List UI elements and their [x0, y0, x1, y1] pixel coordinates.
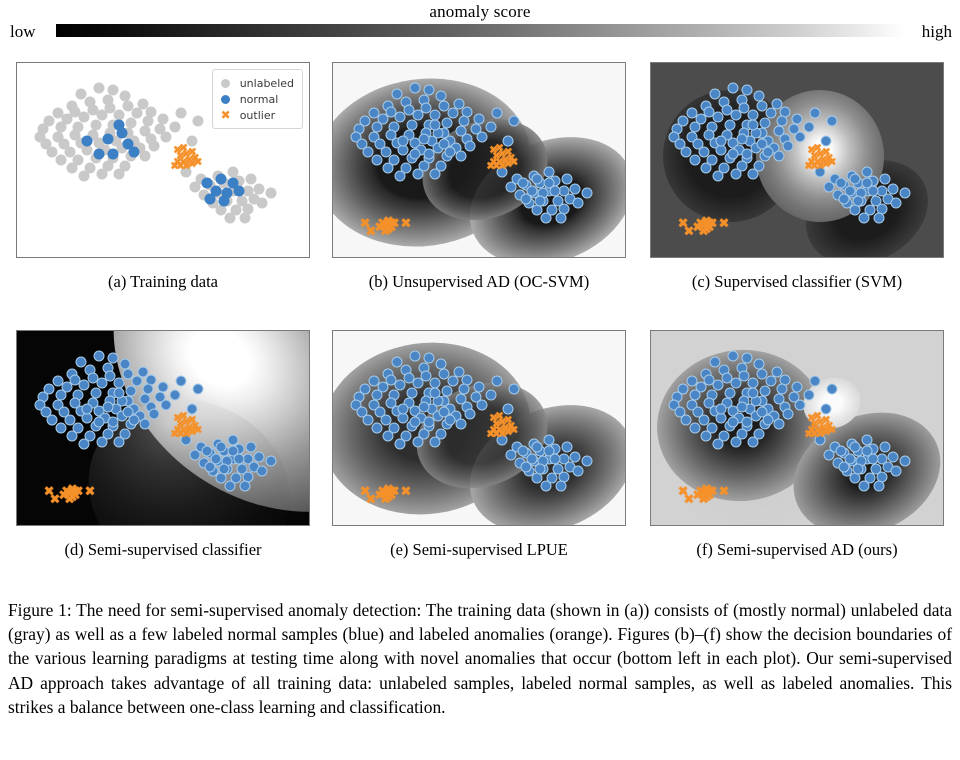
panel-a-caption: (a) Training data [3, 272, 323, 292]
normal-point [701, 162, 712, 173]
normal-point [409, 417, 420, 428]
normal-point [187, 403, 198, 414]
normal-point [783, 141, 794, 152]
normal-point [424, 149, 435, 160]
unlabeled-point [114, 168, 125, 179]
normal-point [573, 197, 584, 208]
scatter-layer-f: ✖✖✖✖✖✖✖✖✖✖✖✖✖✖✖✖✖✖✖✖✖✖✖✖✖✖ [651, 331, 943, 525]
novel-anomaly-point: ✖ [704, 218, 715, 231]
legend-item-outlier: ✖ outlier [219, 107, 294, 123]
normal-point [418, 401, 429, 412]
normal-point [891, 197, 902, 208]
normal-point [114, 436, 125, 447]
normal-point [193, 384, 204, 395]
normal-point [509, 116, 520, 127]
circle-icon [219, 79, 233, 88]
unlabeled-point [55, 155, 66, 166]
normal-point [503, 135, 514, 146]
normal-point [233, 454, 244, 465]
normal-point [108, 417, 119, 428]
unlabeled-point [93, 83, 104, 94]
normal-point [582, 455, 593, 466]
normal-point [873, 213, 884, 224]
unlabeled-point [160, 131, 171, 142]
panel-b-unsupervised-ad: ✖✖✖✖✖✖✖✖✖✖✖✖✖✖✖✖✖✖✖✖✖✖✖✖✖✖ [332, 62, 626, 258]
normal-point [555, 213, 566, 224]
normal-point [216, 442, 227, 453]
normal-point [476, 131, 487, 142]
novel-anomaly-point: ✖ [719, 218, 730, 231]
figure-page: anomaly score low high ✖✖✖✖✖✖✖✖✖✖✖✖✖✖ un… [0, 0, 960, 760]
colorbar-gradient [56, 24, 906, 37]
normal-point [713, 170, 724, 181]
normal-point [233, 186, 244, 197]
normal-point [891, 465, 902, 476]
panel-f-semi-supervised-ad: ✖✖✖✖✖✖✖✖✖✖✖✖✖✖✖✖✖✖✖✖✖✖✖✖✖✖ [650, 330, 944, 526]
normal-point [456, 151, 467, 162]
normal-point [491, 108, 502, 119]
normal-point [114, 120, 125, 131]
scatter-layer-e: ✖✖✖✖✖✖✖✖✖✖✖✖✖✖✖✖✖✖✖✖✖✖✖✖✖✖ [333, 331, 625, 525]
normal-point [509, 384, 520, 395]
normal-point [573, 465, 584, 476]
novel-anomaly-point: ✖ [401, 218, 412, 231]
unlabeled-point [225, 213, 236, 224]
outlier-point: ✖ [193, 156, 202, 167]
normal-point [93, 417, 104, 428]
normal-point [169, 390, 180, 401]
normal-point [412, 436, 423, 447]
outlier-point: ✖ [193, 424, 202, 435]
novel-anomaly-point: ✖ [704, 486, 715, 499]
normal-point [748, 436, 759, 447]
normal-point [879, 174, 890, 185]
normal-point [549, 186, 560, 197]
normal-point [398, 403, 409, 414]
normal-point [821, 403, 832, 414]
novel-anomaly-point: ✖ [719, 486, 730, 499]
normal-point [485, 390, 496, 401]
normal-point [748, 120, 759, 131]
legend-label-unlabeled: unlabeled [240, 77, 294, 90]
normal-point [430, 168, 441, 179]
normal-point [873, 481, 884, 492]
normal-point [465, 409, 476, 420]
novel-anomaly-point: ✖ [374, 489, 385, 502]
normal-point [266, 455, 277, 466]
normal-point [730, 436, 741, 447]
normal-point [149, 409, 160, 420]
panel-e-canvas: ✖✖✖✖✖✖✖✖✖✖✖✖✖✖✖✖✖✖✖✖✖✖✖✖✖✖ [333, 331, 625, 525]
novel-anomaly-point: ✖ [386, 486, 397, 499]
normal-point [383, 162, 394, 173]
normal-point [838, 461, 849, 472]
panel-c-supervised-classifier: ✖✖✖✖✖✖✖✖✖✖✖✖✖✖✖✖✖✖✖✖✖✖✖✖✖✖ [650, 62, 944, 258]
figure-caption: Figure 1: The need for semi-supervised a… [8, 598, 952, 719]
normal-point [827, 116, 838, 127]
normal-point [418, 133, 429, 144]
legend-label-outlier: outlier [240, 109, 275, 122]
normal-point [444, 147, 455, 158]
normal-point [701, 430, 712, 441]
colorbar: low high [0, 23, 960, 41]
normal-point [532, 442, 543, 453]
normal-point [395, 438, 406, 449]
normal-point [794, 399, 805, 410]
normal-point [96, 436, 107, 447]
panel-e-caption: (e) Semi-supervised LPUE [319, 540, 639, 560]
normal-point [809, 108, 820, 119]
unlabeled-point [169, 122, 180, 133]
normal-point [175, 376, 186, 387]
normal-point [430, 436, 441, 447]
normal-point [549, 454, 560, 465]
panel-b-caption: (b) Unsupervised AD (OC-SVM) [319, 272, 639, 292]
outlier-point: ✖ [827, 156, 836, 167]
normal-point [532, 174, 543, 185]
normal-point [503, 403, 514, 414]
novel-anomaly-point: ✖ [58, 489, 69, 502]
novel-anomaly-point: ✖ [692, 221, 703, 234]
scatter-layer-c: ✖✖✖✖✖✖✖✖✖✖✖✖✖✖✖✖✖✖✖✖✖✖✖✖✖✖ [651, 63, 943, 257]
normal-point [774, 151, 785, 162]
normal-point [853, 463, 864, 474]
outlier-point: ✖ [509, 424, 518, 435]
normal-point [859, 481, 870, 492]
panel-c-canvas: ✖✖✖✖✖✖✖✖✖✖✖✖✖✖✖✖✖✖✖✖✖✖✖✖✖✖ [651, 63, 943, 257]
normal-point [128, 147, 139, 158]
normal-point [398, 135, 409, 146]
panel-a-canvas: ✖✖✖✖✖✖✖✖✖✖✖✖✖✖ unlabeled normal ✖ outlie… [17, 63, 309, 257]
normal-point [456, 419, 467, 430]
colorbar-low-label: low [10, 22, 36, 42]
panel-d-caption: (d) Semi-supervised classifier [3, 540, 323, 560]
normal-point [853, 195, 864, 206]
normal-point [520, 461, 531, 472]
legend-item-normal: normal [219, 91, 294, 107]
normal-point [541, 481, 552, 492]
x-marker-icon: ✖ [219, 109, 233, 121]
normal-point [395, 170, 406, 181]
normal-point [140, 419, 151, 430]
panel-f-caption: (f) Semi-supervised AD (ours) [637, 540, 957, 560]
circle-icon [219, 95, 233, 104]
normal-point [535, 195, 546, 206]
normal-point [850, 442, 861, 453]
normal-point [204, 193, 215, 204]
unlabeled-point [239, 213, 250, 224]
normal-point [55, 423, 66, 434]
panel-e-semi-supervised-lpue: ✖✖✖✖✖✖✖✖✖✖✖✖✖✖✖✖✖✖✖✖✖✖✖✖✖✖ [332, 330, 626, 526]
normal-point [520, 193, 531, 204]
legend-label-normal: normal [240, 93, 279, 106]
normal-point [491, 376, 502, 387]
panel-a-training-data: ✖✖✖✖✖✖✖✖✖✖✖✖✖✖ unlabeled normal ✖ outlie… [16, 62, 310, 258]
panel-b-canvas: ✖✖✖✖✖✖✖✖✖✖✖✖✖✖✖✖✖✖✖✖✖✖✖✖✖✖ [333, 63, 625, 257]
normal-point [762, 415, 773, 426]
normal-point [79, 438, 90, 449]
normal-point [371, 155, 382, 166]
unlabeled-point [79, 170, 90, 181]
legend-item-unlabeled: unlabeled [219, 75, 294, 91]
normal-point [742, 149, 753, 160]
normal-point [900, 455, 911, 466]
colorbar-high-label: high [922, 22, 952, 42]
normal-point [716, 135, 727, 146]
normal-point [582, 187, 593, 198]
normal-point [736, 401, 747, 412]
novel-anomaly-point: ✖ [401, 486, 412, 499]
normal-point [160, 399, 171, 410]
normal-point [225, 481, 236, 492]
normal-point [783, 409, 794, 420]
normal-point [93, 149, 104, 160]
normal-point [748, 168, 759, 179]
normal-point [736, 133, 747, 144]
normal-point [762, 147, 773, 158]
novel-anomaly-point: ✖ [70, 486, 81, 499]
normal-point [102, 401, 113, 412]
novel-anomaly-point: ✖ [85, 486, 96, 499]
normal-point [867, 454, 878, 465]
normal-point [879, 442, 890, 453]
normal-point [67, 430, 78, 441]
normal-point [383, 430, 394, 441]
normal-point [424, 417, 435, 428]
normal-point [689, 155, 700, 166]
unlabeled-point [96, 168, 107, 179]
legend: unlabeled normal ✖ outlier [212, 69, 303, 129]
normal-point [485, 122, 496, 133]
normal-point [748, 388, 759, 399]
normal-point [727, 417, 738, 428]
normal-point [102, 133, 113, 144]
novel-anomaly-point: ✖ [692, 489, 703, 502]
normal-point [93, 351, 104, 362]
normal-point [409, 83, 420, 94]
normal-point [444, 415, 455, 426]
unlabeled-point [175, 108, 186, 119]
normal-point [794, 131, 805, 142]
normal-point [476, 399, 487, 410]
normal-point [409, 351, 420, 362]
normal-point [108, 149, 119, 160]
normal-point [114, 388, 125, 399]
normal-point [219, 195, 230, 206]
normal-point [430, 120, 441, 131]
normal-point [371, 423, 382, 434]
unlabeled-point [193, 116, 204, 127]
unlabeled-point [187, 135, 198, 146]
normal-point [219, 463, 230, 474]
normal-point [809, 376, 820, 387]
unlabeled-point [149, 141, 160, 152]
panel-d-semi-supervised-classifier: ✖✖✖✖✖✖✖✖✖✖✖✖✖✖✖✖✖✖✖✖✖✖✖✖✖✖ [16, 330, 310, 526]
normal-point [82, 135, 93, 146]
normal-point [727, 351, 738, 362]
normal-point [727, 83, 738, 94]
normal-point [850, 174, 861, 185]
normal-point [827, 384, 838, 395]
normal-point [867, 186, 878, 197]
scatter-layer-d: ✖✖✖✖✖✖✖✖✖✖✖✖✖✖✖✖✖✖✖✖✖✖✖✖✖✖ [17, 331, 309, 525]
normal-point [689, 423, 700, 434]
normal-point [239, 481, 250, 492]
normal-point [727, 149, 738, 160]
normal-point [430, 388, 441, 399]
normal-point [535, 463, 546, 474]
normal-point [204, 461, 215, 472]
normal-point [774, 419, 785, 430]
colorbar-title: anomaly score [0, 2, 960, 22]
normal-point [561, 174, 572, 185]
panel-d-canvas: ✖✖✖✖✖✖✖✖✖✖✖✖✖✖✖✖✖✖✖✖✖✖✖✖✖✖ [17, 331, 309, 525]
normal-point [257, 465, 268, 476]
unlabeled-point [257, 197, 268, 208]
normal-point [82, 403, 93, 414]
normal-point [730, 168, 741, 179]
normal-point [412, 168, 423, 179]
novel-anomaly-point: ✖ [374, 221, 385, 234]
normal-point [128, 415, 139, 426]
normal-point [900, 187, 911, 198]
panel-c-caption: (c) Supervised classifier (SVM) [637, 272, 957, 292]
unlabeled-point [140, 151, 151, 162]
normal-point [409, 149, 420, 160]
scatter-layer-b: ✖✖✖✖✖✖✖✖✖✖✖✖✖✖✖✖✖✖✖✖✖✖✖✖✖✖ [333, 63, 625, 257]
outlier-point: ✖ [509, 156, 518, 167]
unlabeled-point [67, 162, 78, 173]
normal-point [803, 390, 814, 401]
normal-point [216, 174, 227, 185]
normal-point [742, 417, 753, 428]
unlabeled-point [266, 187, 277, 198]
normal-point [245, 442, 256, 453]
normal-point [555, 481, 566, 492]
normal-point [716, 403, 727, 414]
normal-point [859, 213, 870, 224]
panel-f-canvas: ✖✖✖✖✖✖✖✖✖✖✖✖✖✖✖✖✖✖✖✖✖✖✖✖✖✖ [651, 331, 943, 525]
normal-point [465, 141, 476, 152]
normal-point [803, 122, 814, 133]
outlier-point: ✖ [827, 424, 836, 435]
normal-point [821, 135, 832, 146]
normal-point [561, 442, 572, 453]
normal-point [713, 438, 724, 449]
normal-point [541, 213, 552, 224]
unlabeled-point [245, 174, 256, 185]
normal-point [838, 193, 849, 204]
novel-anomaly-point: ✖ [386, 218, 397, 231]
